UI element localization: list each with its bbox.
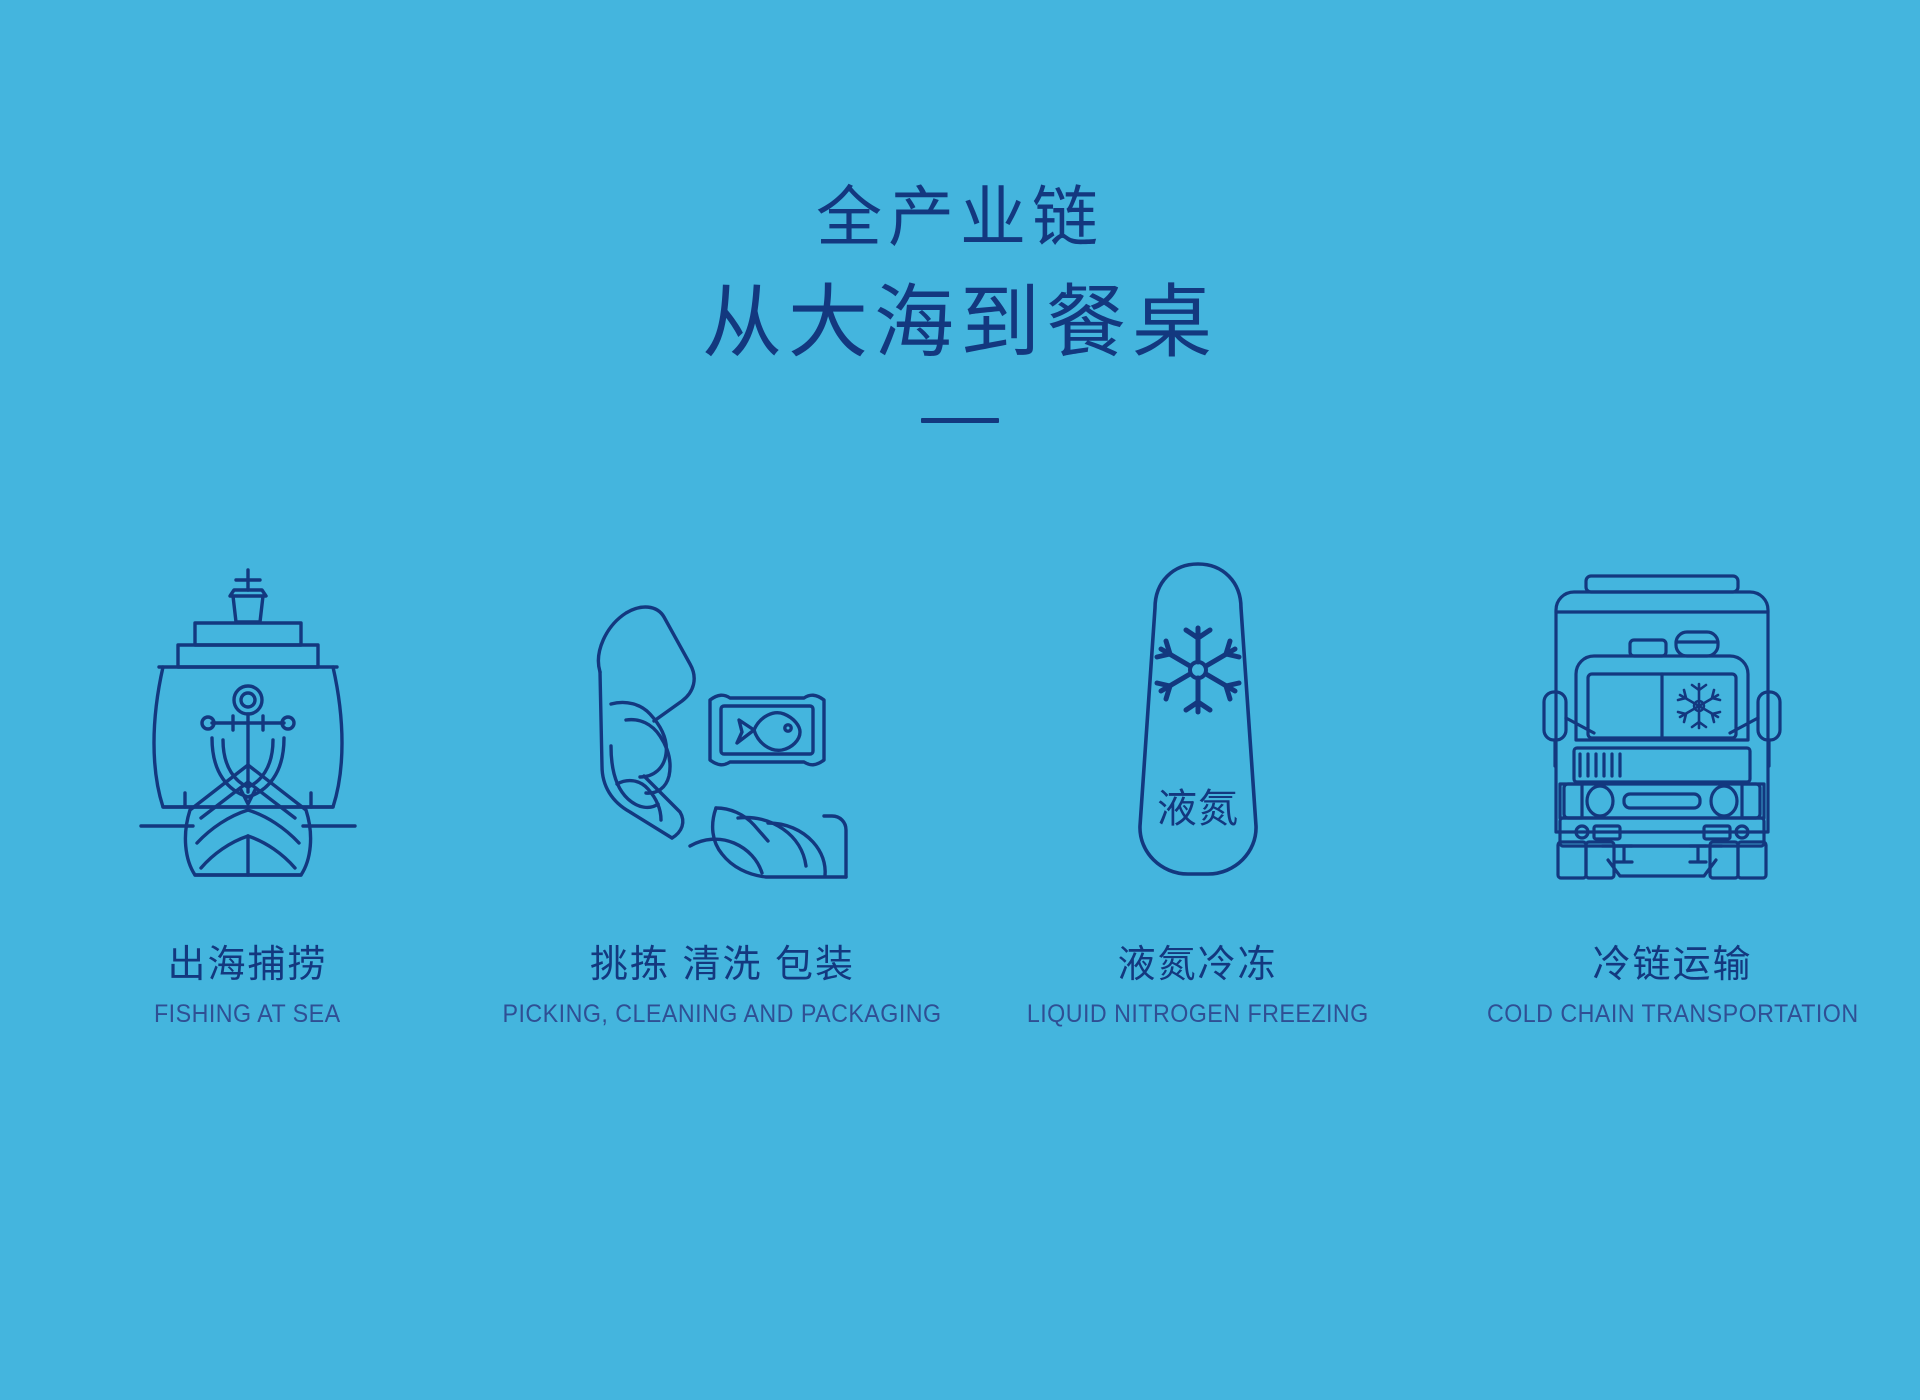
hands-with-packaged-fish-icon [578,580,868,880]
page-root: 全产业链 从大海到餐桌 [0,0,1920,1400]
step-2-labels: 挑拣 清洗 包装 PICKING, CLEANING AND PACKAGING [486,942,958,1030]
step-4-title-cn: 冷链运输 [1473,942,1873,988]
snowflake-icon [1157,628,1239,712]
step-4-labels: 冷链运输 COLD CHAIN TRANSPORTATION [1473,942,1873,1030]
step-2-title-cn: 挑拣 清洗 包装 [486,942,958,988]
liquid-nitrogen-tank-icon: 液氮 [1128,560,1268,880]
step-1-title-en: FISHING AT SEA [154,998,341,1030]
refrigerated-truck-icon [1538,570,1808,880]
step-3-title-cn: 液氮冷冻 [1014,942,1382,988]
step-3-labels: 液氮冷冻 LIQUID NITROGEN FREEZING [1014,942,1382,1030]
title-divider [921,418,999,423]
step-2-artwork [578,520,868,880]
step-liquid-nitrogen-freezing: 液氮 液氮冷冻 LIQUID NITROGEN FREEZING [960,520,1435,1030]
step-fishing-at-sea: 出海捕捞 FISHING AT SEA [10,520,485,1030]
fishing-boat-icon [133,560,363,880]
packaged-fish-icon [710,695,824,765]
page-title-line-1: 全产业链 [0,178,1920,260]
page-title-line-2: 从大海到餐桌 [0,274,1920,374]
step-cold-chain-transportation: 冷链运输 COLD CHAIN TRANSPORTATION [1435,520,1910,1030]
step-2-title-en: PICKING, CLEANING AND PACKAGING [503,998,942,1030]
step-3-title-en: LIQUID NITROGEN FREEZING [1027,998,1369,1030]
liquid-nitrogen-inner-label: 液氮 [1157,787,1239,831]
step-1-artwork [133,520,363,880]
step-1-title-cn: 出海捕捞 [147,942,348,988]
step-3-artwork: 液氮 [1128,520,1268,880]
step-1-labels: 出海捕捞 FISHING AT SEA [147,942,348,1030]
step-picking-cleaning-packaging: 挑拣 清洗 包装 PICKING, CLEANING AND PACKAGING [485,520,960,1030]
step-4-title-en: COLD CHAIN TRANSPORTATION [1487,998,1859,1030]
step-4-artwork [1538,520,1808,880]
heading-block: 全产业链 从大海到餐桌 [0,178,1920,423]
process-steps-row: 出海捕捞 FISHING AT SEA [0,520,1920,1030]
snowflake-icon [1678,684,1720,728]
